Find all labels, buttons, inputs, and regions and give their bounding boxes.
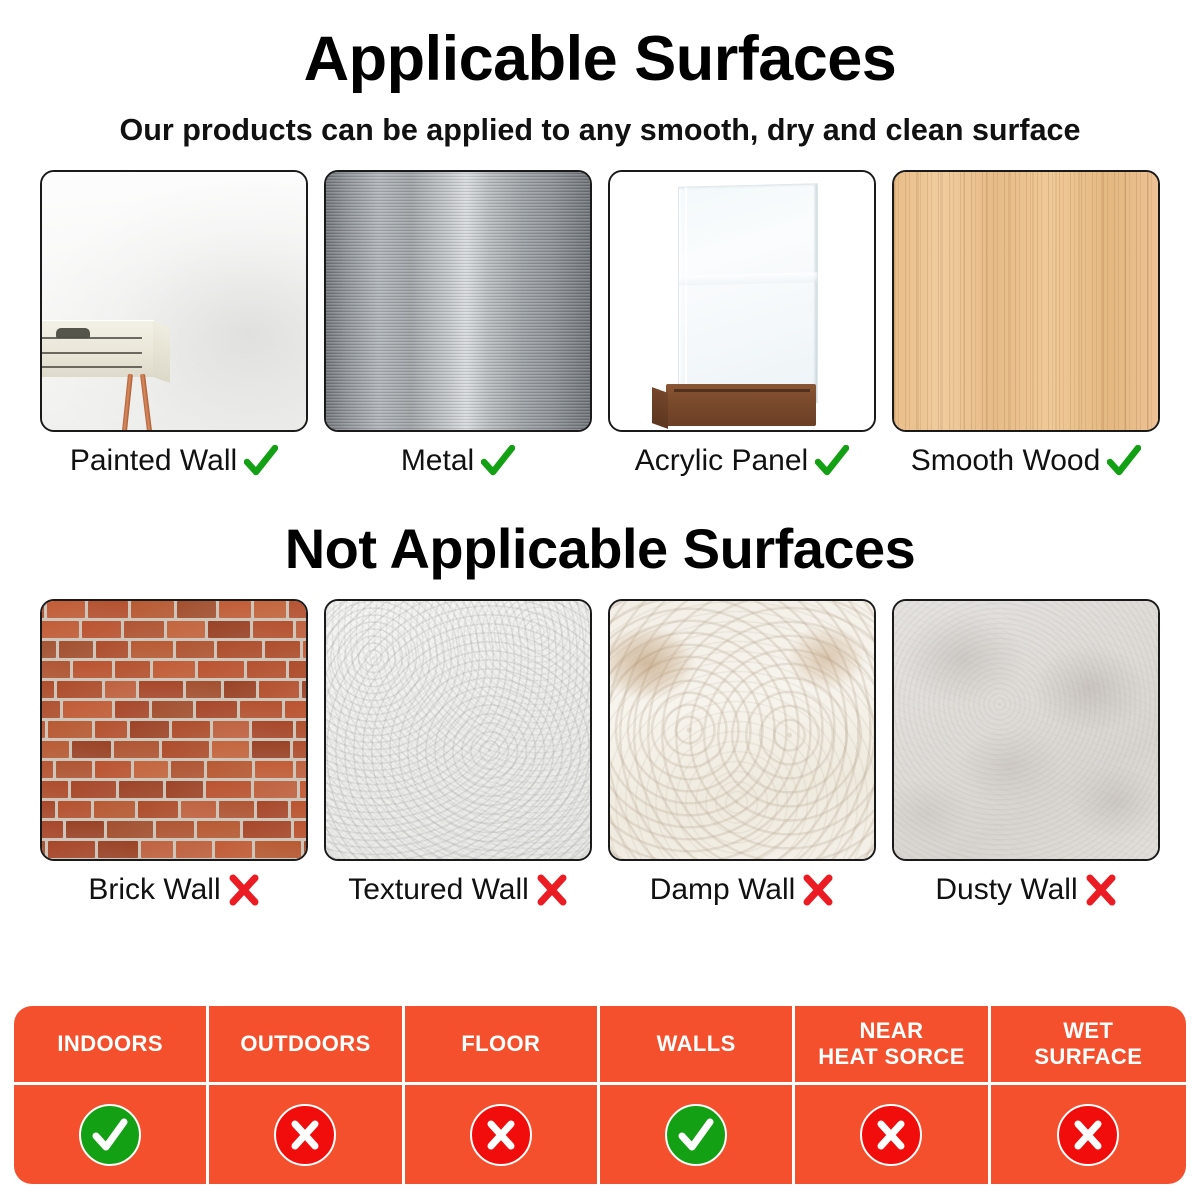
usage-header-label: INDOORS — [57, 1031, 162, 1057]
brick — [294, 821, 308, 838]
painted-wall-texture — [42, 172, 306, 430]
brick — [252, 721, 292, 738]
surface-label: Textured Wall — [348, 875, 529, 905]
surface-label: Metal — [401, 446, 474, 476]
check-mark-icon — [481, 445, 515, 477]
brick — [304, 841, 308, 858]
usage-header-label-multiline: NEAR HEAT SORCE — [818, 1018, 965, 1069]
painted-wall-image — [40, 170, 308, 432]
surface-label: Acrylic Panel — [635, 446, 808, 476]
brick — [167, 621, 205, 638]
brick — [215, 841, 252, 858]
brick — [105, 681, 136, 698]
brick — [119, 781, 164, 798]
brick — [265, 641, 300, 658]
surface-caption: Damp Wall — [650, 874, 835, 906]
acrylic-sheet-graphic — [678, 183, 818, 406]
brick-wall-texture — [42, 601, 306, 859]
brick — [107, 821, 152, 838]
acrylic-panel-texture — [610, 172, 874, 430]
brick — [40, 601, 44, 618]
brick — [98, 841, 137, 858]
usage-status-floor — [405, 1085, 600, 1184]
surface-card-smooth-wood: Smooth Wood — [890, 170, 1162, 477]
brick-row — [40, 601, 308, 621]
brick — [40, 621, 79, 638]
brick — [254, 781, 297, 798]
surface-label: Dusty Wall — [935, 875, 1077, 905]
brick — [48, 841, 96, 858]
check-mark-icon — [244, 445, 278, 477]
brick — [303, 641, 308, 658]
brick — [171, 761, 204, 778]
brick — [285, 701, 308, 718]
brick — [252, 741, 291, 758]
dusty-wall-image — [892, 599, 1160, 861]
brick-row — [40, 701, 308, 721]
brick — [217, 641, 262, 658]
usage-header-line-1: WET — [1063, 1018, 1113, 1043]
section-2-title-wrap: Not Applicable Surfaces — [0, 521, 1200, 577]
smooth-wood-image — [892, 170, 1160, 432]
usage-status-indoors — [14, 1085, 209, 1184]
infographic-page: Applicable Surfaces Our products can be … — [0, 0, 1200, 1200]
brick — [243, 821, 291, 838]
brick — [115, 661, 151, 678]
usage-status-wet-surface — [991, 1085, 1186, 1184]
brick — [257, 801, 288, 818]
applicable-surfaces-grid: Painted Wall Metal — [0, 170, 1200, 477]
surface-caption: Smooth Wood — [911, 445, 1142, 477]
textured-wall-texture — [326, 601, 590, 859]
brick — [59, 641, 93, 658]
brick — [134, 761, 167, 778]
brick — [302, 681, 308, 698]
brick-row — [40, 681, 308, 701]
table-leg-graphic — [140, 373, 153, 431]
brick — [207, 761, 252, 778]
brick — [40, 841, 45, 858]
brick — [40, 801, 55, 818]
wood-base-graphic — [666, 384, 816, 426]
surface-caption: Metal — [401, 445, 515, 477]
brick — [58, 801, 91, 818]
surface-card-acrylic-panel: Acrylic Panel — [606, 170, 878, 477]
cross-mark-icon — [536, 874, 568, 906]
brick — [40, 721, 45, 738]
usage-suitability-table: INDOORS OUTDOORS FLOOR WALLS NEAR HEAT S… — [14, 1006, 1186, 1184]
circle-check-badge-icon — [665, 1104, 727, 1166]
brick — [255, 761, 293, 778]
brick — [197, 821, 240, 838]
cross-mark-icon — [228, 874, 260, 906]
brick-row — [40, 721, 308, 741]
brick — [255, 841, 301, 858]
brick — [253, 621, 293, 638]
brick — [95, 721, 127, 738]
brick — [259, 681, 300, 698]
brick — [162, 741, 209, 758]
usage-status-outdoors — [209, 1085, 404, 1184]
brick — [71, 781, 115, 798]
damp-wall-texture — [610, 601, 874, 859]
brick — [131, 601, 174, 618]
brick — [138, 801, 177, 818]
brick — [176, 841, 212, 858]
brick — [115, 701, 149, 718]
brick — [141, 841, 174, 858]
check-mark-icon — [815, 445, 849, 477]
usage-header-label: FLOOR — [461, 1031, 540, 1057]
brick — [156, 821, 195, 838]
drawer-line — [42, 352, 142, 354]
brick — [186, 681, 221, 698]
brick — [219, 601, 251, 618]
brick — [63, 701, 111, 718]
brick — [130, 721, 169, 738]
surface-label: Damp Wall — [650, 875, 796, 905]
usage-header-line-2: SURFACE — [1034, 1044, 1142, 1069]
circle-cross-badge-icon — [860, 1104, 922, 1166]
usage-header-label: WALLS — [657, 1031, 736, 1057]
brick — [198, 661, 244, 678]
drawer-line — [42, 337, 142, 339]
usage-header-outdoors: OUTDOORS — [209, 1006, 404, 1085]
brick — [300, 781, 308, 798]
brick — [131, 641, 173, 658]
surface-card-textured-wall: Textured Wall — [322, 599, 594, 906]
surface-card-brick-wall: Brick Wall — [38, 599, 310, 906]
brick — [56, 761, 92, 778]
usage-header-line-2: HEAT SORCE — [818, 1044, 965, 1069]
brick-row — [40, 661, 308, 681]
metal-image — [324, 170, 592, 432]
brick-row — [40, 641, 308, 661]
brick — [40, 761, 53, 778]
brick — [289, 661, 308, 678]
surface-card-dusty-wall: Dusty Wall — [890, 599, 1162, 906]
brick-row — [40, 781, 308, 801]
page-subtitle: Our products can be applied to any smoot… — [0, 91, 1200, 146]
cross-mark-icon — [1085, 874, 1117, 906]
brick — [47, 601, 85, 618]
usage-header-wet-surface: WET SURFACE — [991, 1006, 1186, 1085]
console-table-graphic — [40, 320, 154, 377]
brick — [196, 701, 237, 718]
brick — [40, 821, 63, 838]
surface-card-metal: Metal — [322, 170, 594, 477]
surface-caption: Acrylic Panel — [635, 445, 849, 477]
cross-mark-icon — [802, 874, 834, 906]
dusty-wall-texture — [894, 601, 1158, 859]
brick-row — [40, 741, 308, 761]
brick — [40, 781, 68, 798]
brick — [213, 721, 249, 738]
brick — [72, 741, 111, 758]
smooth-wood-texture — [894, 172, 1158, 430]
brick — [114, 741, 159, 758]
brick — [94, 801, 135, 818]
usage-header-line-1: NEAR — [860, 1018, 924, 1043]
brick — [296, 721, 308, 738]
brick — [177, 601, 215, 618]
brick — [153, 661, 194, 678]
surface-card-painted-wall: Painted Wall — [38, 170, 310, 477]
brick — [95, 761, 131, 778]
surface-label: Smooth Wood — [911, 446, 1101, 476]
brick — [289, 601, 308, 618]
usage-header-label: OUTDOORS — [240, 1031, 370, 1057]
brick — [124, 621, 164, 638]
surface-caption: Brick Wall — [88, 874, 259, 906]
brick — [152, 701, 193, 718]
brick — [40, 641, 56, 658]
brushed-metal-texture — [326, 172, 590, 430]
surface-caption: Textured Wall — [348, 874, 568, 906]
brick — [73, 661, 112, 678]
surface-label: Brick Wall — [88, 875, 220, 905]
brick — [96, 641, 127, 658]
brick-row — [40, 621, 308, 641]
brick — [57, 681, 102, 698]
circle-cross-badge-icon — [470, 1104, 532, 1166]
usage-header-label-multiline: WET SURFACE — [1034, 1018, 1142, 1069]
check-mark-icon — [1107, 445, 1141, 477]
usage-status-near-heat-source — [795, 1085, 990, 1184]
brick — [212, 741, 249, 758]
usage-header-near-heat-source: NEAR HEAT SORCE — [795, 1006, 990, 1085]
circle-cross-badge-icon — [274, 1104, 336, 1166]
brick — [139, 681, 183, 698]
brick-row — [40, 841, 308, 861]
brick — [254, 601, 287, 618]
brick — [293, 741, 308, 758]
brick — [296, 761, 308, 778]
brick — [166, 781, 203, 798]
surface-caption: Painted Wall — [70, 445, 278, 477]
usage-header-indoors: INDOORS — [14, 1006, 209, 1085]
usage-status-walls — [600, 1085, 795, 1184]
surface-label: Painted Wall — [70, 446, 237, 476]
brick — [40, 701, 60, 718]
brick — [181, 801, 216, 818]
brick — [40, 681, 54, 698]
section-2-title: Not Applicable Surfaces — [0, 521, 1200, 577]
page-title: Applicable Surfaces — [0, 0, 1200, 91]
damp-wall-image — [608, 599, 876, 861]
brick — [40, 741, 69, 758]
brick — [224, 681, 256, 698]
brick — [172, 721, 210, 738]
brick — [247, 661, 287, 678]
brick-row — [40, 801, 308, 821]
brick-row — [40, 821, 308, 841]
brick — [206, 781, 251, 798]
acrylic-panel-image — [608, 170, 876, 432]
brick — [88, 601, 128, 618]
surface-card-damp-wall: Damp Wall — [606, 599, 878, 906]
table-leg-graphic — [122, 373, 133, 431]
brick — [48, 721, 92, 738]
brick-wall-image — [40, 599, 308, 861]
circle-cross-badge-icon — [1057, 1104, 1119, 1166]
brick — [240, 701, 282, 718]
usage-header-floor: FLOOR — [405, 1006, 600, 1085]
drawer-line — [42, 366, 142, 368]
brick — [66, 821, 104, 838]
brick — [291, 801, 308, 818]
brick-row — [40, 761, 308, 781]
brick — [219, 801, 255, 818]
textured-wall-image — [324, 599, 592, 861]
not-applicable-surfaces-grid: Brick Wall Textured Wall — [0, 599, 1200, 906]
usage-header-walls: WALLS — [600, 1006, 795, 1085]
brick — [176, 641, 214, 658]
brick — [82, 621, 121, 638]
brick — [208, 621, 250, 638]
brick — [296, 621, 308, 638]
circle-check-badge-icon — [79, 1104, 141, 1166]
brick — [40, 661, 70, 678]
surface-caption: Dusty Wall — [935, 874, 1116, 906]
